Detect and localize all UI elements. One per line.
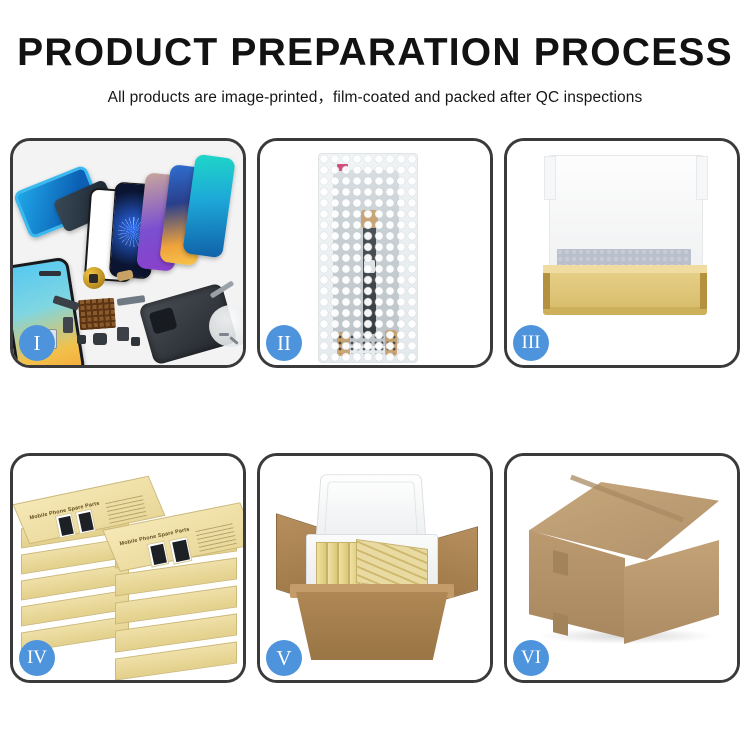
product-preparation-page: PRODUCT PREPARATION PROCESS All products… (0, 0, 750, 750)
packed-box (327, 542, 338, 588)
carton-tape-lower (553, 612, 568, 636)
page-subtitle: All products are image-printed，film-coat… (0, 85, 750, 107)
step-badge-2: II (266, 325, 302, 361)
process-step-panel-6[interactable]: VI (504, 453, 740, 683)
packed-box (316, 542, 327, 588)
tray-edge-right (700, 273, 707, 309)
process-step-panel-5[interactable]: V (257, 453, 493, 683)
carton-body (296, 592, 448, 660)
small-part (93, 333, 107, 345)
small-part (219, 333, 229, 336)
bubble-wrap-pouch (318, 153, 418, 363)
process-step-panel-2[interactable]: II (257, 138, 493, 368)
page-title: PRODUCT PREPARATION PROCESS (0, 33, 750, 72)
step-badge-5: V (266, 640, 302, 676)
process-step-grid: I II (10, 138, 740, 738)
tray-edge-left (543, 273, 550, 309)
small-part (77, 335, 86, 344)
step-badge-3: III (513, 325, 549, 361)
connector-grid-part (78, 298, 116, 330)
step-badge-4: IV (19, 640, 55, 676)
step-badge-1: I (19, 325, 55, 361)
process-step-panel-3[interactable]: III (504, 138, 740, 368)
small-part (117, 295, 146, 306)
bubble-texture (319, 154, 417, 362)
small-part (63, 317, 73, 333)
small-part (131, 337, 140, 346)
box-stack: Mobile Phone Spare Parts Mobile Phone Sp… (19, 476, 243, 666)
kraft-tray-base (543, 271, 707, 309)
step-badge-6: VI (513, 640, 549, 676)
process-step-panel-1[interactable]: I (10, 138, 246, 368)
packed-box (338, 542, 349, 588)
process-step-panel-4[interactable]: Mobile Phone Spare Parts Mobile Phone Sp… (10, 453, 246, 683)
small-part (39, 271, 61, 276)
speaker-module-part (83, 267, 105, 289)
small-part (116, 269, 134, 281)
carton-tape-upper (553, 550, 568, 576)
page-header: PRODUCT PREPARATION PROCESS All products… (0, 0, 750, 107)
small-part (117, 327, 129, 341)
